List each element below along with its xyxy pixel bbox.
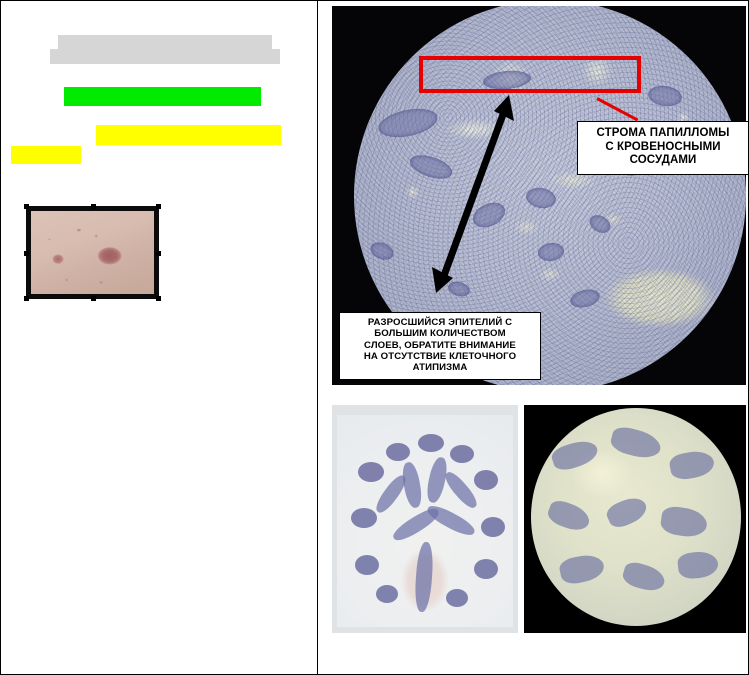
papilla-shape (558, 552, 606, 587)
branching-papilloma-tissue (337, 415, 513, 627)
highlight-bar-gray-bottom[interactable] (50, 49, 280, 64)
callout-hyperplastic-epithelium: РАЗРОСШИЙСЯ ЭПИТЕЛИЙ С БОЛЬШИМ КОЛИЧЕСТВ… (339, 312, 541, 380)
clinical-photo-selection-frame[interactable] (26, 206, 159, 299)
resize-handle-top-center[interactable] (91, 204, 96, 209)
highlight-bar-yellow-long[interactable] (96, 125, 281, 145)
papilla-shape (621, 560, 668, 595)
papilloma-highpower-micrograph[interactable] (524, 405, 746, 633)
resize-handle-middle-right[interactable] (156, 251, 161, 256)
papilla-shape (668, 448, 716, 481)
papilloma-branching-micrograph[interactable] (332, 405, 518, 633)
resize-handle-top-right[interactable] (156, 204, 161, 209)
resize-handle-bottom-center[interactable] (91, 296, 96, 301)
papilla-shape (608, 424, 663, 461)
papilla-tip (450, 445, 474, 463)
papilla-shape (603, 492, 649, 530)
papilla-tip (351, 508, 377, 528)
papilla-tip (474, 559, 498, 579)
callout-line: СЛОЕВ, ОБРАТИТЕ ВНИМАНИЕ (343, 340, 537, 351)
slide-page: СТРОМА ПАПИЛЛОМЫ С КРОВЕНОСНЫМИ СОСУДАМИ… (0, 0, 749, 675)
callout-line: СТРОМА ПАПИЛЛОМЫ (581, 127, 745, 141)
callout-line: РАЗРОСШИЙСЯ ЭПИТЕЛИЙ С (343, 317, 537, 328)
papilla-tip (376, 585, 398, 603)
papilla-shape (659, 505, 708, 539)
papilla-shape (549, 436, 600, 473)
column-divider (317, 1, 318, 675)
skin-papilloma-clinical-photo[interactable] (31, 211, 154, 294)
highlight-bar-green[interactable] (64, 87, 261, 106)
stroma-roi-rectangle[interactable] (419, 56, 641, 93)
callout-line: НА ОТСУТСТВИЕ КЛЕТОЧНОГО (343, 351, 537, 362)
papilla-tip (358, 462, 384, 482)
microscope-field-circle (531, 408, 741, 626)
callout-stroma-with-vessels: СТРОМА ПАПИЛЛОМЫ С КРОВЕНОСНЫМИ СОСУДАМИ (577, 121, 749, 175)
resize-handle-bottom-right[interactable] (156, 296, 161, 301)
papilla-tip (474, 470, 498, 490)
resize-handle-middle-left[interactable] (24, 251, 29, 256)
resize-handle-bottom-left[interactable] (24, 296, 29, 301)
resize-handle-top-left[interactable] (24, 204, 29, 209)
papilla-stalk (414, 542, 435, 613)
papilla-tip (446, 589, 468, 607)
papilla-tip (386, 443, 410, 461)
callout-line: АТИПИЗМА (343, 362, 537, 373)
papilla-tip (481, 517, 505, 537)
papilla-tip (355, 555, 379, 575)
highlight-bar-yellow-short[interactable] (11, 146, 81, 164)
callout-line: С КРОВЕНОСНЫМИ (581, 141, 745, 155)
papilla-shape (545, 497, 593, 534)
callout-line: СОСУДАМИ (581, 154, 745, 168)
papilla-branch (400, 461, 424, 509)
papilla-tip (418, 434, 444, 452)
papilla-shape (677, 550, 719, 580)
callout-line: БОЛЬШИМ КОЛИЧЕСТВОМ (343, 328, 537, 339)
